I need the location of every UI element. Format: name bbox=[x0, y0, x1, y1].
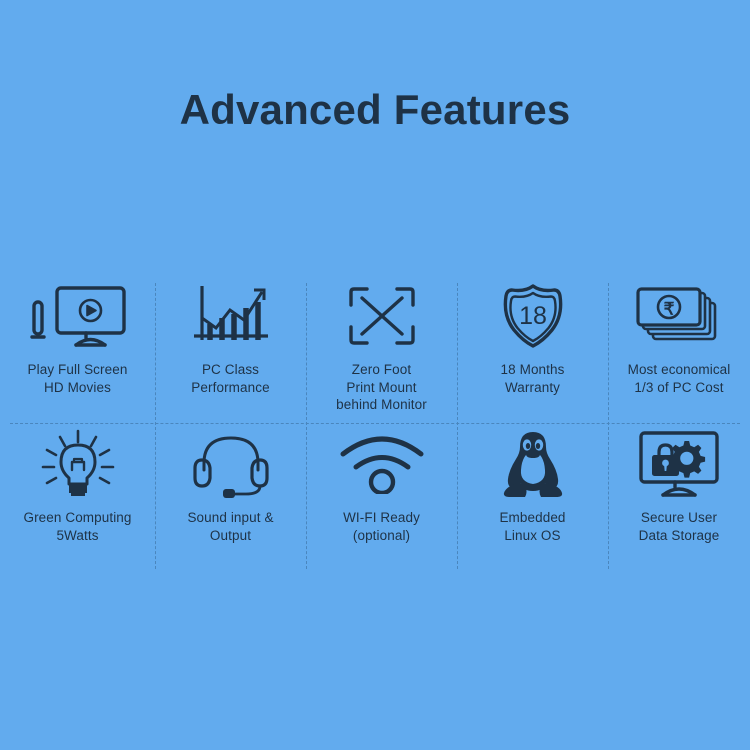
rupee-banknotes-icon: ₹ bbox=[631, 280, 727, 352]
feature-label: Embedded Linux OS bbox=[499, 509, 565, 544]
feature-label: Sound input & Output bbox=[187, 509, 273, 544]
headset-icon bbox=[190, 428, 272, 500]
feature-item-green-computing[interactable]: Green Computing 5Watts bbox=[0, 424, 155, 572]
feature-item-zero-footprint[interactable]: Zero Foot Print Mount behind Monitor bbox=[306, 276, 457, 424]
feature-label: WI-FI Ready (optional) bbox=[343, 509, 420, 544]
feature-label: Zero Foot Print Mount behind Monitor bbox=[336, 361, 427, 414]
feature-item-wifi[interactable]: WI-FI Ready (optional) bbox=[306, 424, 457, 572]
feature-grid: Play Full Screen HD Movies bbox=[0, 276, 750, 572]
feature-label: 18 Months Warranty bbox=[501, 361, 565, 396]
feature-row-bottom: Green Computing 5Watts Sound in bbox=[0, 424, 750, 572]
feature-label: PC Class Performance bbox=[191, 361, 269, 396]
linux-penguin-icon bbox=[492, 428, 574, 500]
monitor-lock-gear-icon bbox=[637, 428, 721, 500]
feature-row-top: Play Full Screen HD Movies bbox=[0, 276, 750, 424]
feature-item-warranty[interactable]: 18 18 Months Warranty bbox=[457, 276, 608, 424]
warranty-badge-number: 18 bbox=[519, 302, 547, 330]
bracket-x-icon bbox=[345, 280, 419, 352]
feature-label: Green Computing 5Watts bbox=[23, 509, 131, 544]
feature-label: Secure User Data Storage bbox=[639, 509, 720, 544]
shield-18-icon: 18 bbox=[498, 280, 568, 352]
feature-item-play-hd-movies[interactable]: Play Full Screen HD Movies bbox=[0, 276, 155, 424]
feature-label: Most economical 1/3 of PC Cost bbox=[628, 361, 731, 396]
feature-item-linux-os[interactable]: Embedded Linux OS bbox=[457, 424, 608, 572]
page-title: Advanced Features bbox=[0, 86, 750, 134]
feature-item-economical[interactable]: ₹ Most economical 1/3 of PC Cost bbox=[608, 276, 750, 424]
wifi-icon bbox=[337, 428, 427, 500]
feature-item-sound-io[interactable]: Sound input & Output bbox=[155, 424, 306, 572]
bar-chart-growth-icon bbox=[188, 280, 274, 352]
feature-label: Play Full Screen HD Movies bbox=[28, 361, 128, 396]
monitor-play-icon bbox=[26, 280, 130, 352]
rupee-symbol: ₹ bbox=[664, 300, 675, 319]
feature-item-secure-storage[interactable]: Secure User Data Storage bbox=[608, 424, 750, 572]
lightbulb-icon bbox=[38, 428, 118, 500]
feature-highlights-page: Advanced Features bbox=[0, 0, 750, 750]
feature-item-pc-class-performance[interactable]: PC Class Performance bbox=[155, 276, 306, 424]
